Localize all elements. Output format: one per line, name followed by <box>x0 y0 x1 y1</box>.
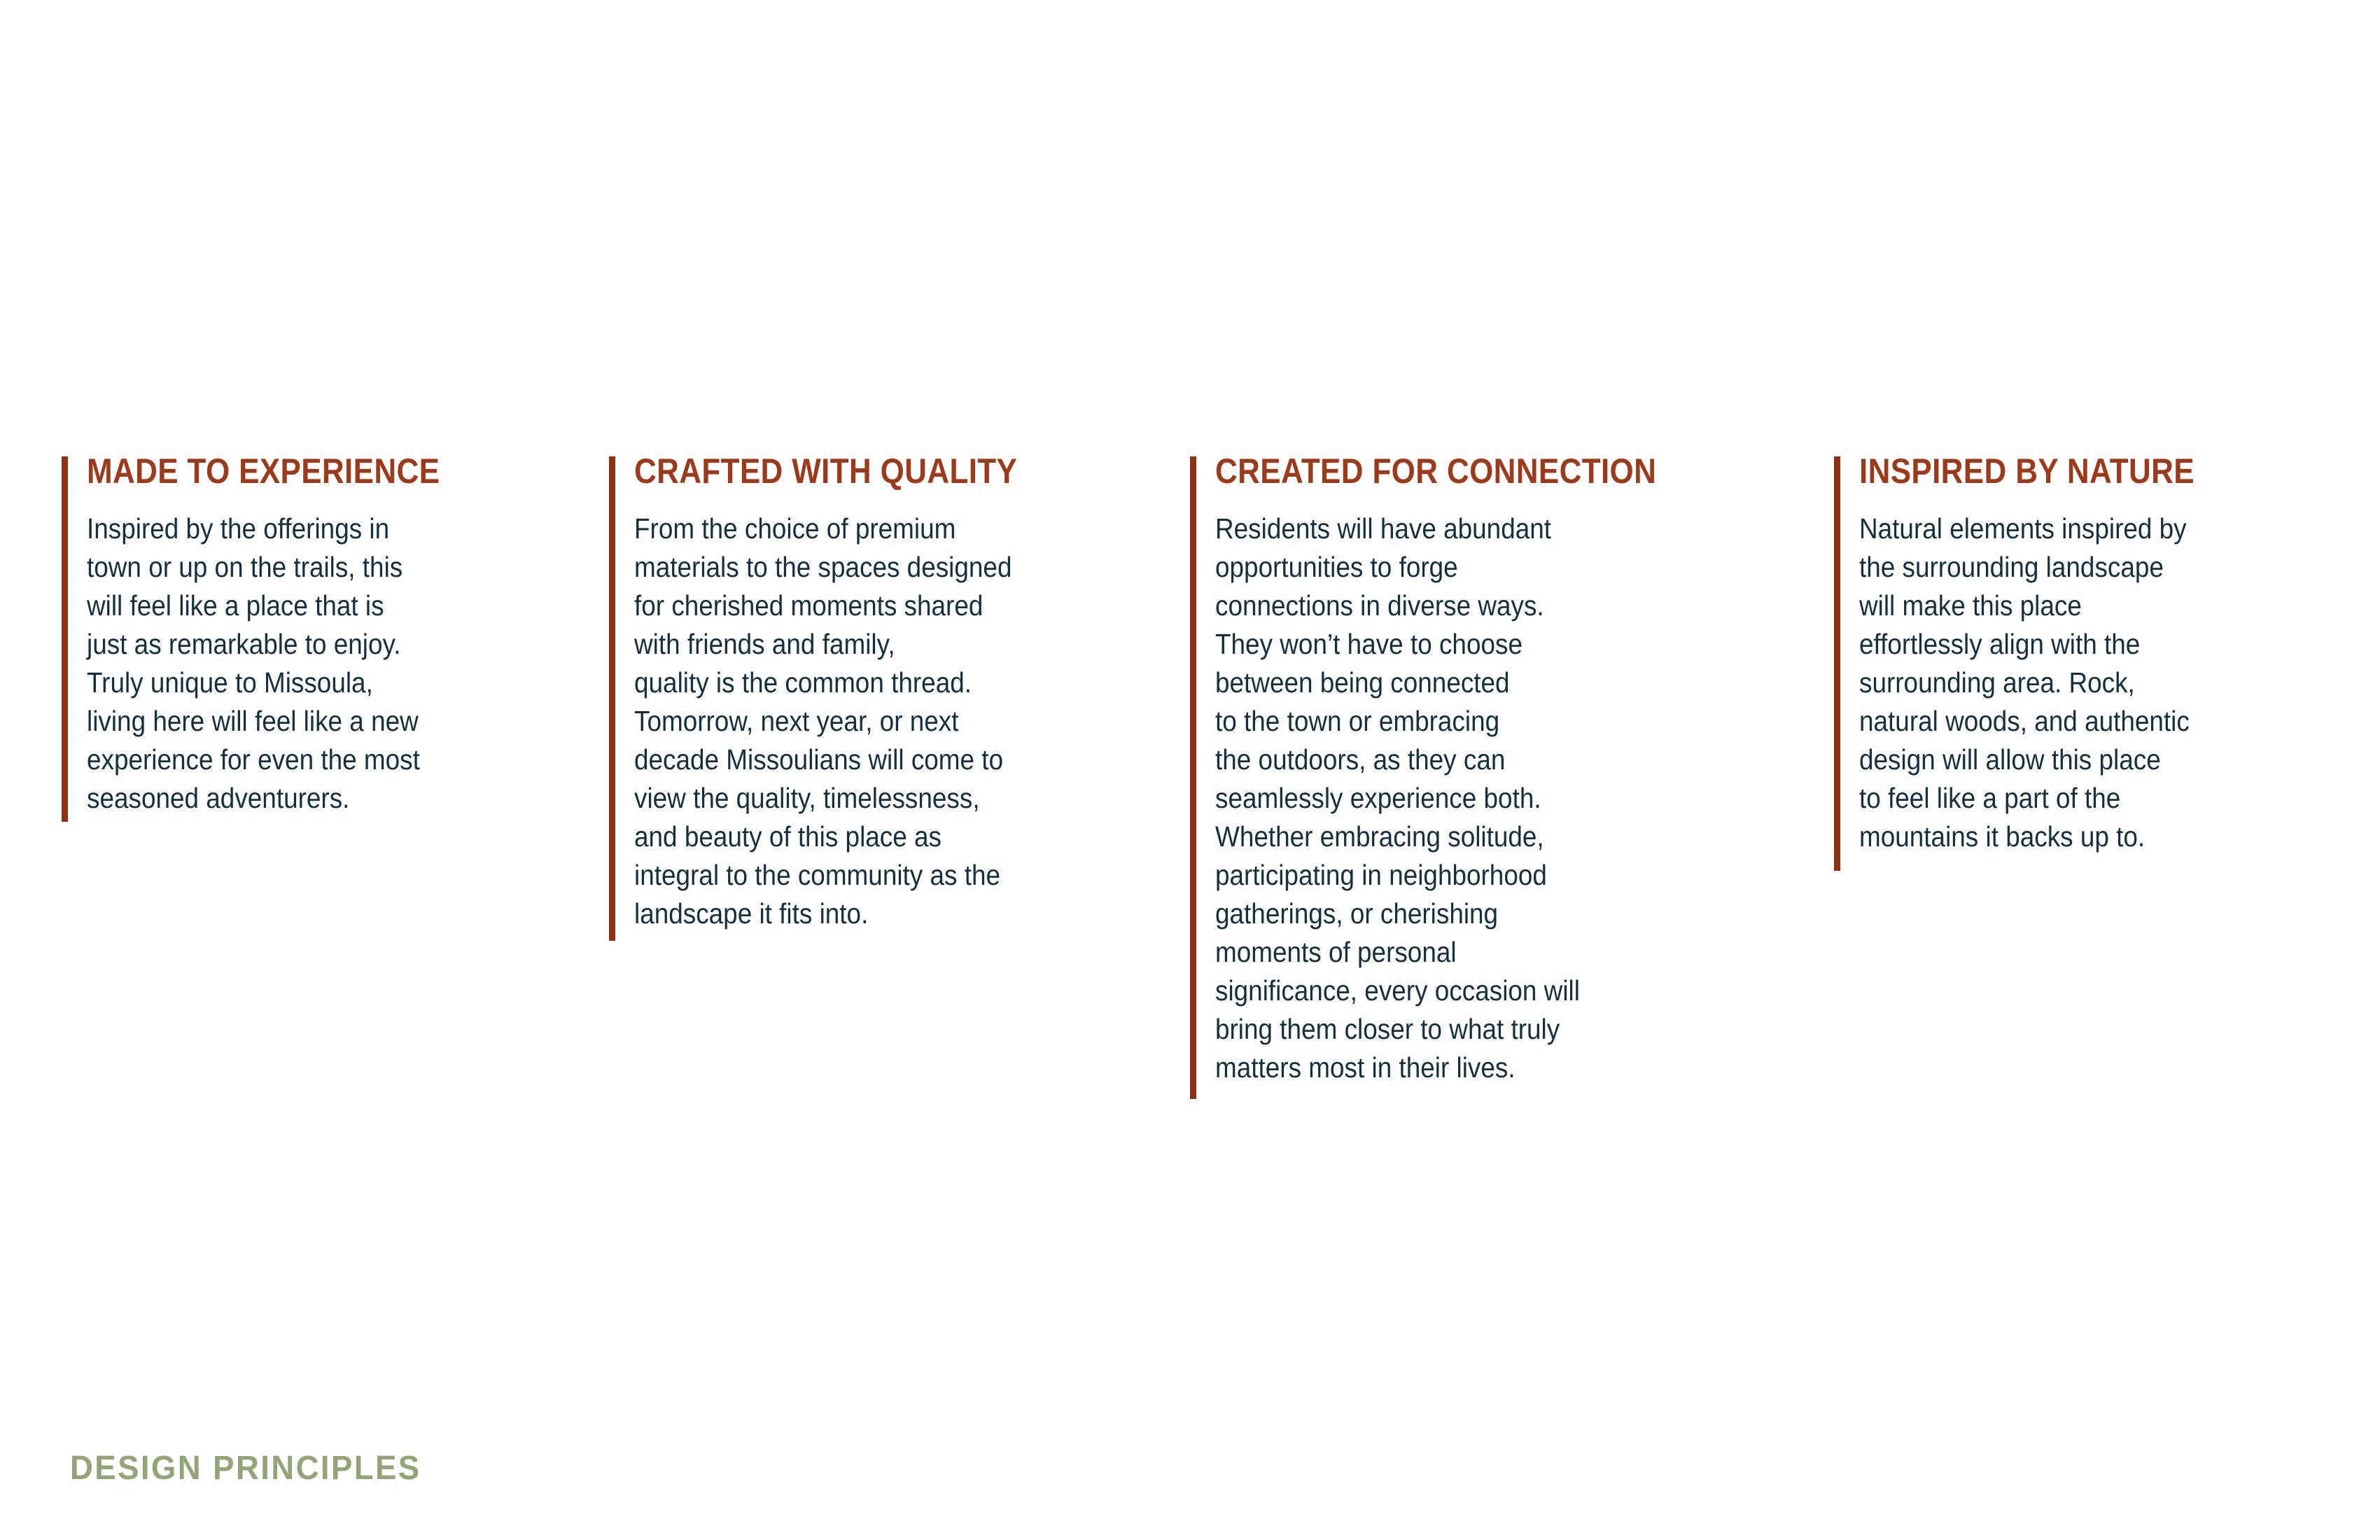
section-footer-label: DESIGN PRINCIPLES <box>70 1452 421 1485</box>
accent-bar <box>62 456 68 822</box>
principle-body: Inspired by the offerings in town or up … <box>87 510 556 818</box>
principle-card-created-for-connection: CREATED FOR CONNECTION Residents will ha… <box>1190 454 1834 1087</box>
principle-body: Natural elements inspired by the surroun… <box>1859 510 2283 856</box>
principle-body: From the choice of premium materials to … <box>634 510 1135 933</box>
design-principles-columns: MADE TO EXPERIENCE Inspired by the offer… <box>62 454 2330 1087</box>
principle-body: Residents will have abundant opportuniti… <box>1215 510 1772 1087</box>
accent-bar <box>1190 456 1196 1099</box>
principle-card-crafted-with-quality: CRAFTED WITH QUALITY From the choice of … <box>609 454 1190 933</box>
accent-bar <box>609 456 615 941</box>
principle-heading: INSPIRED BY NATURE <box>1859 454 2273 489</box>
principle-card-inspired-by-nature: INSPIRED BY NATURE Natural elements insp… <box>1834 454 2330 856</box>
principle-card-made-to-experience: MADE TO EXPERIENCE Inspired by the offer… <box>62 454 609 818</box>
principle-heading: CREATED FOR CONNECTION <box>1215 454 1760 489</box>
accent-bar <box>1834 456 1840 871</box>
principle-heading: CRAFTED WITH QUALITY <box>634 454 1123 489</box>
principle-heading: MADE TO EXPERIENCE <box>87 454 546 489</box>
